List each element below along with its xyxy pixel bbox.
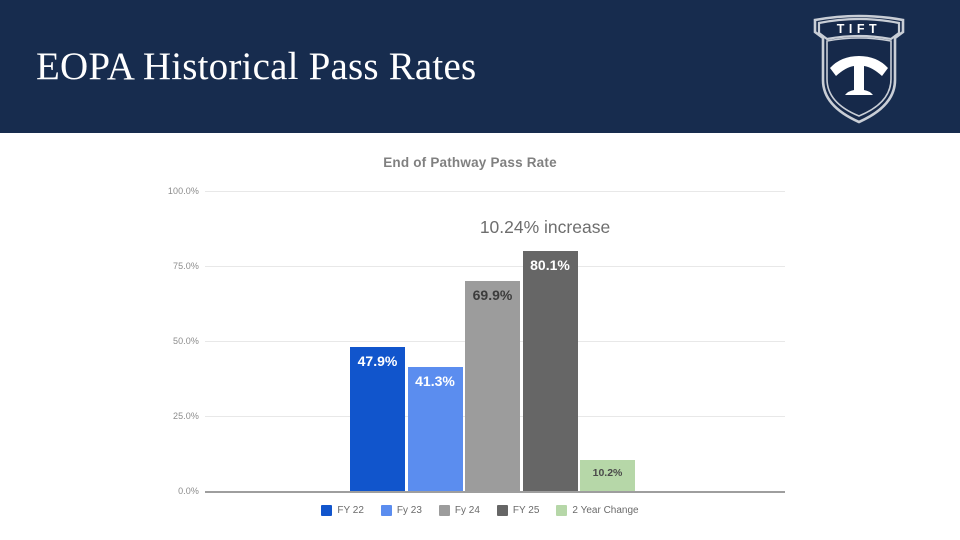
bar-fy-25: 80.1% — [523, 251, 578, 491]
y-tick-label: 100.0% — [139, 186, 199, 196]
legend-item-label: Fy 23 — [397, 505, 422, 516]
bar-2-year-change: 10.2% — [580, 460, 635, 491]
page-title: EOPA Historical Pass Rates — [36, 44, 476, 90]
chart-legend: FY 22Fy 23Fy 24FY 252 Year Change — [0, 505, 960, 516]
legend-item-label: Fy 24 — [455, 505, 480, 516]
plot-area: 47.9%41.3%69.9%80.1%10.2% — [205, 191, 785, 491]
bar-value-label: 10.2% — [580, 467, 635, 479]
slide-canvas: EOPA Historical Pass Rates TIFT End of P… — [0, 0, 960, 540]
chart-title: End of Pathway Pass Rate — [170, 155, 770, 170]
gridline-100 — [205, 191, 785, 192]
legend-swatch-icon — [497, 505, 508, 516]
legend-swatch-icon — [556, 505, 567, 516]
legend-item[interactable]: FY 25 — [497, 505, 540, 516]
gridline-75 — [205, 266, 785, 267]
legend-swatch-icon — [321, 505, 332, 516]
bar-fy-24: 69.9% — [465, 281, 520, 491]
y-axis-labels: 100.0% 75.0% 50.0% 25.0% 0.0% — [135, 191, 199, 491]
y-tick-label: 25.0% — [139, 411, 199, 421]
pass-rate-bar-chart: End of Pathway Pass Rate 10.24% increase… — [0, 133, 960, 540]
bar-value-label: 47.9% — [350, 353, 405, 369]
bar-value-label: 41.3% — [408, 373, 463, 389]
bar-fy-23: 41.3% — [408, 367, 463, 491]
axis-baseline — [205, 491, 785, 493]
legend-item[interactable]: 2 Year Change — [556, 505, 638, 516]
bar-value-label: 80.1% — [523, 257, 578, 273]
y-tick-label: 75.0% — [139, 261, 199, 271]
legend-item-label: 2 Year Change — [572, 505, 638, 516]
tift-shield-logo: TIFT — [801, 6, 917, 126]
legend-swatch-icon — [439, 505, 450, 516]
legend-item-label: FY 25 — [513, 505, 540, 516]
legend-item[interactable]: Fy 24 — [439, 505, 480, 516]
legend-item[interactable]: FY 22 — [321, 505, 364, 516]
y-tick-label: 0.0% — [139, 486, 199, 496]
bar-fy-22: 47.9% — [350, 347, 405, 491]
legend-item[interactable]: Fy 23 — [381, 505, 422, 516]
shield-wordmark: TIFT — [837, 22, 881, 36]
legend-item-label: FY 22 — [337, 505, 364, 516]
y-tick-label: 50.0% — [139, 336, 199, 346]
bar-value-label: 69.9% — [465, 287, 520, 303]
legend-swatch-icon — [381, 505, 392, 516]
